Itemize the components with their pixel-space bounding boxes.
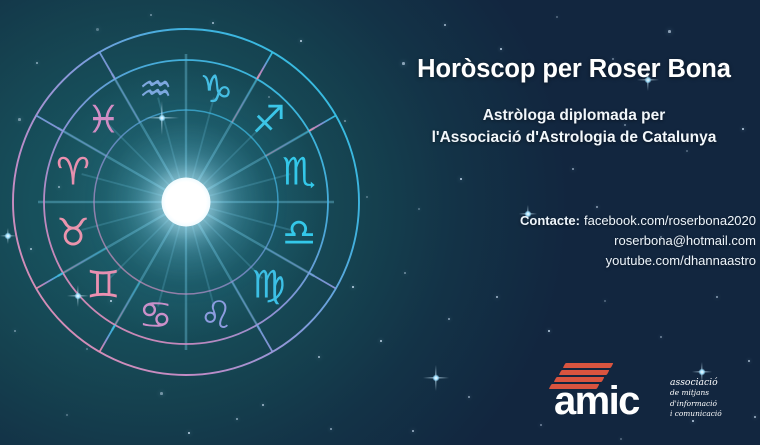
amic-stripe <box>563 363 614 368</box>
contact-label: Contacte: <box>520 213 580 228</box>
contact-youtube[interactable]: youtube.com/dhannaastro <box>606 253 756 268</box>
amic-tagline-line-3: d'informació <box>670 399 750 409</box>
zodiac-symbol-sagittarius: ♐ <box>252 97 286 141</box>
zodiac-symbol-libra: ♎ <box>282 210 316 254</box>
subtitle-line-1: Astròloga diplomada per <box>392 105 756 127</box>
contact-row-facebook: Contacte:facebook.com/roserbona2020 <box>430 211 756 231</box>
amic-logo[interactable]: amic associació de mitjans d'informació … <box>548 362 748 424</box>
zodiac-symbol-taurus: ♉ <box>56 210 90 254</box>
contact-email[interactable]: roserbona@hotmail.com <box>614 233 756 248</box>
page-subtitle: Astròloga diplomada per l'Associació d'A… <box>392 105 756 149</box>
contact-facebook[interactable]: facebook.com/roserbona2020 <box>584 213 756 228</box>
contact-row-youtube: youtube.com/dhannaastro <box>430 251 756 271</box>
zodiac-symbol-pisces: ♓ <box>86 97 120 141</box>
amic-tagline-line-4: i comunicació <box>670 409 750 419</box>
amic-tagline-line-1: associació <box>670 378 750 388</box>
zodiac-symbol-gemini: ♊ <box>86 263 120 307</box>
sun-core-icon <box>162 178 211 227</box>
contact-block: Contacte:facebook.com/roserbona2020 rose… <box>430 211 756 271</box>
amic-tagline: associació de mitjans d'informació i com… <box>670 378 750 420</box>
subtitle-line-2: l'Associació d'Astrologia de Catalunya <box>392 127 756 149</box>
zodiac-symbol-scorpio: ♏ <box>282 150 316 194</box>
zodiac-symbol-cancer: ♋ <box>139 293 173 337</box>
zodiac-symbol-virgo: ♍ <box>252 263 286 307</box>
zodiac-symbol-leo: ♌ <box>199 293 233 337</box>
zodiac-symbol-capricorn: ♑ <box>199 67 233 111</box>
contact-row-email: roserbona@hotmail.com <box>430 231 756 251</box>
page-title: Horòscop per Roser Bona <box>398 55 750 84</box>
amic-tagline-line-2: de mitjans <box>670 388 750 398</box>
amic-wordmark: amic <box>554 381 639 421</box>
amic-stripe <box>559 370 610 375</box>
zodiac-symbol-aquarius: ♒ <box>139 67 173 111</box>
zodiac-symbol-aries: ♈ <box>56 150 90 194</box>
horoscope-banner: ♑♐♏♎♍♌♋♊♉♈♓♒ Horòscop per Roser Bona Ast… <box>0 0 760 445</box>
